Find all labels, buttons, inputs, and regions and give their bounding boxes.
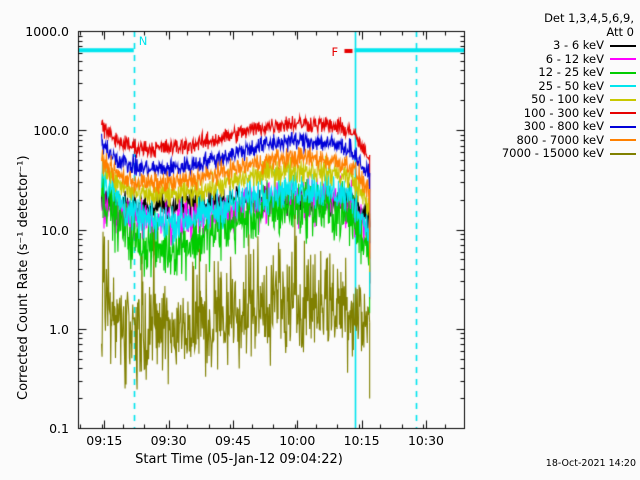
chart-page: RHESSI Observing Summary Count Rates, Co…	[0, 0, 640, 480]
y-tick-label: 1000.0	[0, 24, 69, 39]
legend-entry-label: 50 - 100 keV	[531, 93, 604, 107]
legend-entry: 25 - 50 keV	[470, 80, 638, 94]
legend-color-swatch	[610, 99, 636, 101]
x-tick-label: 09:30	[134, 433, 204, 448]
x-tick-label: 09:45	[198, 433, 268, 448]
y-tick-label: 0.1	[0, 421, 69, 436]
legend-entry-label: 12 - 25 keV	[538, 66, 604, 80]
legend-color-swatch	[610, 72, 636, 74]
legend-entry-label: 3 - 6 keV	[553, 39, 604, 53]
x-tick-label: 10:30	[391, 433, 461, 448]
legend-entry-label: 100 - 300 keV	[524, 107, 604, 121]
legend-color-swatch	[610, 112, 636, 114]
legend-color-swatch	[610, 45, 636, 47]
legend-entry: 7000 - 15000 keV	[470, 147, 638, 161]
legend-color-swatch	[610, 153, 636, 155]
legend-entry-label: 6 - 12 keV	[546, 53, 604, 67]
legend-entry: 800 - 7000 keV	[470, 134, 638, 148]
annotation-label-n: N	[139, 34, 148, 48]
x-tick-label: 10:15	[327, 433, 397, 448]
legend-color-swatch	[610, 85, 636, 87]
x-tick-label: 10:00	[262, 433, 332, 448]
y-axis-label: Corrected Count Rate (s⁻¹ detector⁻¹)	[16, 155, 31, 400]
x-tick-label: 09:15	[69, 433, 139, 448]
y-tick-label: 100.0	[0, 123, 69, 138]
legend-entry: 300 - 800 keV	[470, 120, 638, 134]
x-axis-label: Start Time (05-Jan-12 09:04:22)	[78, 452, 400, 467]
legend-entry-label: 25 - 50 keV	[538, 80, 604, 94]
legend-entry: 3 - 6 keV	[470, 39, 638, 53]
legend-entry-label: 300 - 800 keV	[524, 120, 604, 134]
annotation-label-f: F	[331, 45, 338, 59]
legend-color-swatch	[610, 139, 636, 141]
legend-entry: 12 - 25 keV	[470, 66, 638, 80]
legend-entry-label: 800 - 7000 keV	[516, 134, 604, 148]
legend-entry: 100 - 300 keV	[470, 107, 638, 121]
render-timestamp: 18-Oct-2021 14:20	[500, 458, 636, 469]
legend-color-swatch	[610, 126, 636, 128]
legend-entry: 50 - 100 keV	[470, 93, 638, 107]
legend-header-attenuator: Att 0	[470, 26, 638, 40]
legend-entries: 3 - 6 keV6 - 12 keV12 - 25 keV25 - 50 ke…	[470, 39, 638, 161]
legend: Det 1,3,4,5,6,9, Att 0 3 - 6 keV6 - 12 k…	[470, 12, 638, 161]
y-tick-label: 10.0	[0, 223, 69, 238]
y-tick-label: 1.0	[0, 322, 69, 337]
legend-entry: 6 - 12 keV	[470, 53, 638, 67]
legend-header-detectors: Det 1,3,4,5,6,9,	[470, 12, 638, 26]
legend-color-swatch	[610, 58, 636, 60]
legend-entry-label: 7000 - 15000 keV	[502, 147, 604, 161]
